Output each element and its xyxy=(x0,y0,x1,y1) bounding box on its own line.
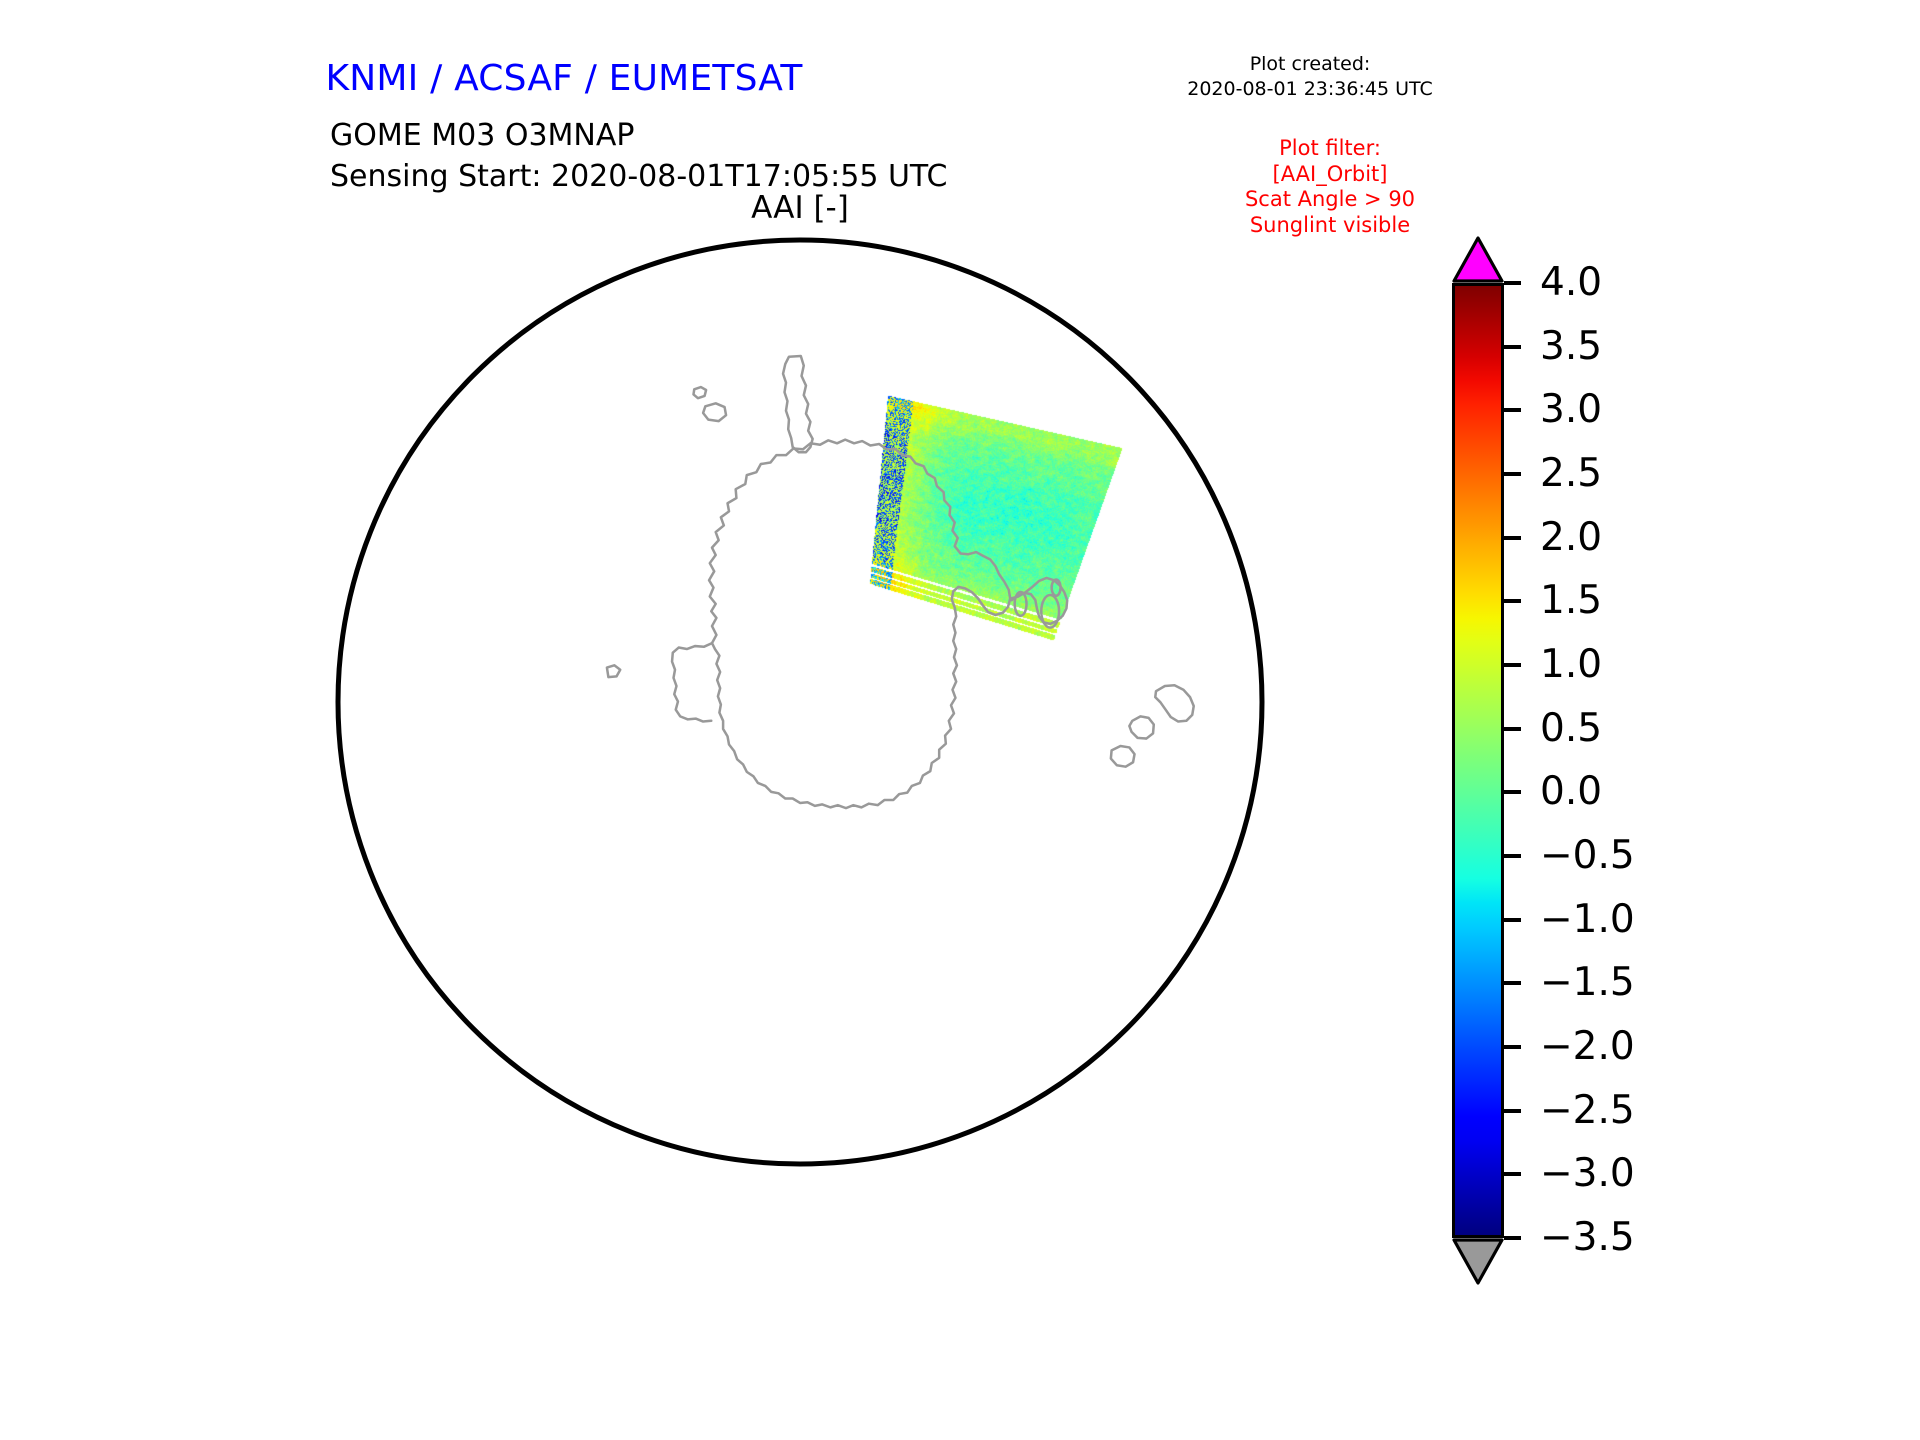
colorbar-tick-label: 1.5 xyxy=(1540,578,1602,624)
colorbar-tick-mark xyxy=(1504,408,1521,412)
colorbar-tick-mark xyxy=(1504,790,1521,794)
colorbar-under-arrow xyxy=(1452,1238,1504,1285)
colorbar-tick-label: −2.0 xyxy=(1540,1024,1635,1070)
colorbar-tick-list: 4.03.53.02.52.01.51.00.50.0−0.5−1.0−1.5−… xyxy=(1504,283,1764,1238)
map-svg xyxy=(330,232,1270,1172)
polar-stereographic-map xyxy=(330,232,1270,1172)
colorbar-tick-label: −3.0 xyxy=(1540,1151,1635,1197)
colorbar-tick-mark xyxy=(1504,345,1521,349)
colorbar-tick-mark xyxy=(1504,1236,1521,1240)
colorbar-tick-label: −3.5 xyxy=(1540,1215,1635,1261)
colorbar-gradient-body xyxy=(1452,283,1504,1238)
colorbar-tick-mark xyxy=(1504,727,1521,731)
colorbar-tick-label: −2.5 xyxy=(1540,1088,1635,1134)
colorbar-tick-mark xyxy=(1504,599,1521,603)
colorbar-over-arrow xyxy=(1452,236,1504,283)
colorbar-tick-mark xyxy=(1504,536,1521,540)
colorbar-tick-label: 2.5 xyxy=(1540,451,1602,497)
colorbar-tick-label: 2.0 xyxy=(1540,515,1602,561)
colorbar-tick-label: −1.0 xyxy=(1540,897,1635,943)
colorbar-tick-label: 0.0 xyxy=(1540,769,1602,815)
aai-swath-layer xyxy=(330,232,1270,1172)
plot-filter-line-3: Scat Angle > 90 xyxy=(1150,187,1510,213)
colorbar-tick-mark xyxy=(1504,281,1521,285)
plot-created-label: Plot created: xyxy=(1110,52,1510,77)
plot-created-timestamp: 2020-08-01 23:36:45 UTC xyxy=(1110,77,1510,102)
colorbar-tick-label: 1.0 xyxy=(1540,642,1602,688)
colorbar-tick-label: 0.5 xyxy=(1540,706,1602,752)
plot-filter-block: Plot filter: [AAI_Orbit] Scat Angle > 90… xyxy=(1150,136,1510,238)
plot-filter-line-2: [AAI_Orbit] xyxy=(1150,162,1510,188)
colorbar: 4.03.53.02.52.01.51.00.50.0−0.5−1.0−1.5−… xyxy=(1452,238,1504,1283)
colorbar-tick-label: −1.5 xyxy=(1540,960,1635,1006)
colorbar-tick-mark xyxy=(1504,1172,1521,1176)
colorbar-tick-mark xyxy=(1504,663,1521,667)
colorbar-tick-mark xyxy=(1504,854,1521,858)
colorbar-tick-label: 3.0 xyxy=(1540,387,1602,433)
instrument-label: GOME M03 O3MNAP xyxy=(330,115,947,156)
variable-title: AAI [-] xyxy=(330,190,1270,226)
colorbar-tick-mark xyxy=(1504,1045,1521,1049)
colorbar-gradient xyxy=(1455,286,1501,1235)
plot-created-block: Plot created: 2020-08-01 23:36:45 UTC xyxy=(1110,52,1510,102)
colorbar-tick-label: −0.5 xyxy=(1540,833,1635,879)
colorbar-tick-label: 4.0 xyxy=(1540,260,1602,306)
colorbar-tick-mark xyxy=(1504,981,1521,985)
colorbar-tick-label: 3.5 xyxy=(1540,324,1602,370)
colorbar-tick-mark xyxy=(1504,472,1521,476)
aai-swath-raster xyxy=(330,232,1270,1172)
colorbar-tick-mark xyxy=(1504,1109,1521,1113)
plot-filter-line-1: Plot filter: xyxy=(1150,136,1510,162)
colorbar-tick-mark xyxy=(1504,918,1521,922)
dataset-info-block: GOME M03 O3MNAP Sensing Start: 2020-08-0… xyxy=(330,115,947,197)
page-title-organisations: KNMI / ACSAF / EUMETSAT xyxy=(0,58,1128,99)
